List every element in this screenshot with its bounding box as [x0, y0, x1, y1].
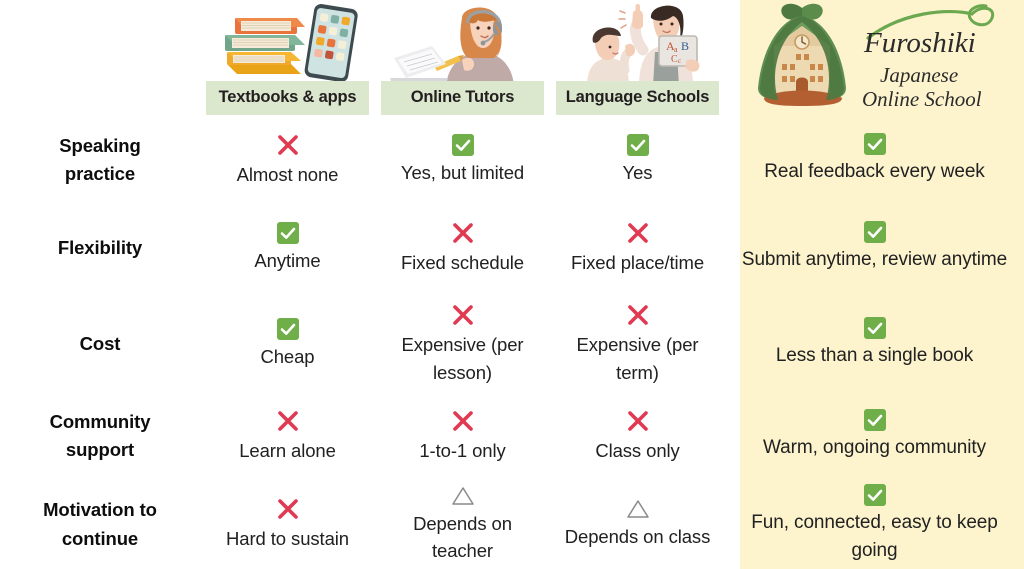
cell-value: 1-to-1 only — [419, 437, 505, 464]
cross-mark-icon — [450, 302, 476, 328]
check-mark-icon — [627, 134, 649, 156]
cross-mark-icon — [275, 132, 301, 158]
cell-value: Fixed place/time — [571, 249, 704, 276]
cross-mark-icon — [275, 408, 301, 434]
svg-text:C: C — [671, 54, 678, 65]
cell-motivation-tutors: Depends on teacher — [375, 480, 550, 569]
column-header-label: Textbooks & apps — [206, 81, 369, 115]
warning-triangle-icon — [451, 485, 475, 507]
row-label-speaking-practice: Speaking practice — [0, 120, 200, 200]
cell-cost-textbooks: Cheap — [200, 296, 375, 392]
svg-text:B: B — [681, 39, 689, 53]
row-label-line2: support — [66, 439, 134, 460]
row-label-line1: Community — [50, 411, 151, 432]
cross-mark-icon — [450, 408, 476, 434]
cross-mark-icon — [275, 496, 301, 522]
cross-mark-icon — [450, 220, 476, 246]
cell-value: Cheap — [260, 343, 314, 370]
check-mark-icon — [864, 133, 886, 155]
check-mark-icon — [277, 318, 299, 340]
cell-value: Hard to sustain — [226, 525, 349, 552]
cell-speaking-furoshiki: Real feedback every week — [725, 120, 1024, 200]
cross-mark-icon — [625, 302, 651, 328]
row-label-flexibility: Flexibility — [0, 200, 200, 296]
cross-mark-icon — [625, 220, 651, 246]
cell-motivation-schools: Depends on class — [550, 480, 725, 569]
cell-value: Learn alone — [239, 437, 336, 464]
check-mark-icon — [864, 409, 886, 431]
cell-motivation-furoshiki: Fun, connected, easy to keep going — [725, 480, 1024, 569]
cross-mark-icon — [625, 408, 651, 434]
cell-community-textbooks: Learn alone — [200, 392, 375, 480]
check-mark-icon — [864, 221, 886, 243]
comparison-table: Textbooks & apps — [0, 0, 1024, 569]
cell-community-furoshiki: Warm, ongoing community — [725, 392, 1024, 480]
row-label-line1: Cost — [80, 333, 121, 354]
cell-flexibility-schools: Fixed place/time — [550, 200, 725, 296]
school-wrapped-in-furoshiki-icon — [748, 2, 856, 114]
cell-speaking-tutors: Yes, but limited — [375, 120, 550, 200]
column-header-language-schools: A a B C c Language Schools — [550, 0, 725, 120]
table-corner-cell — [0, 0, 200, 120]
cell-value: Warm, ongoing community — [763, 434, 986, 462]
svg-text:Online School: Online School — [862, 87, 982, 111]
cell-community-schools: Class only — [550, 392, 725, 480]
svg-text:a: a — [674, 45, 678, 54]
check-mark-icon — [864, 484, 886, 506]
cell-speaking-textbooks: Almost none — [200, 120, 375, 200]
column-header-label: Online Tutors — [381, 81, 544, 115]
row-label-line1: Motivation to — [43, 499, 157, 520]
row-label-community-support: Community support — [0, 392, 200, 480]
row-label-line2: practice — [65, 163, 135, 184]
stack-of-books-and-phone-icon — [213, 0, 363, 86]
cell-cost-schools: Expensive (per term) — [550, 296, 725, 392]
cell-cost-tutors: Expensive (per lesson) — [375, 296, 550, 392]
check-mark-icon — [864, 317, 886, 339]
cell-value: Fixed schedule — [401, 249, 524, 276]
cell-flexibility-tutors: Fixed schedule — [375, 200, 550, 296]
woman-with-headset-laptop-icon — [388, 0, 538, 86]
svg-text:Japanese: Japanese — [880, 63, 958, 87]
cell-cost-furoshiki: Less than a single book — [725, 296, 1024, 392]
brand-header: Furoshiki Japanese Online School — [725, 0, 1024, 120]
cell-speaking-schools: Yes — [550, 120, 725, 200]
cell-value: Anytime — [254, 247, 320, 274]
cell-community-tutors: 1-to-1 only — [375, 392, 550, 480]
cell-value: Fun, connected, easy to keep going — [731, 509, 1018, 565]
row-label-line1: Flexibility — [58, 237, 142, 258]
row-label-line2: continue — [62, 528, 138, 549]
cell-motivation-textbooks: Hard to sustain — [200, 480, 375, 569]
teacher-and-student-classroom-icon: A a B C c — [563, 0, 713, 86]
cell-value: Real feedback every week — [764, 158, 984, 186]
column-header-textbooks: Textbooks & apps — [200, 0, 375, 120]
row-label-line1: Speaking — [59, 135, 140, 156]
cell-flexibility-textbooks: Anytime — [200, 200, 375, 296]
row-label-cost: Cost — [0, 296, 200, 392]
cell-value: Expensive (per lesson) — [381, 331, 544, 386]
cell-value: Expensive (per term) — [556, 331, 719, 386]
cell-value: Yes — [623, 159, 653, 186]
warning-triangle-icon — [626, 498, 650, 520]
cell-flexibility-furoshiki: Submit anytime, review anytime — [725, 200, 1024, 296]
cell-value: Less than a single book — [776, 342, 973, 370]
cell-value: Depends on teacher — [381, 510, 544, 565]
cell-value: Yes, but limited — [401, 159, 524, 186]
cell-value: Depends on class — [565, 523, 710, 550]
check-mark-icon — [452, 134, 474, 156]
cell-value: Submit anytime, review anytime — [742, 246, 1007, 274]
check-mark-icon — [277, 222, 299, 244]
svg-text:c: c — [678, 57, 681, 65]
svg-text:Furoshiki: Furoshiki — [863, 27, 976, 59]
row-label-motivation-to-continue: Motivation to continue — [0, 480, 200, 569]
cell-value: Class only — [595, 437, 679, 464]
column-header-online-tutors: Online Tutors — [375, 0, 550, 120]
cell-value: Almost none — [237, 161, 339, 188]
column-header-label: Language Schools — [556, 81, 719, 115]
brand-wordmark: Furoshiki Japanese Online School — [862, 2, 1002, 114]
